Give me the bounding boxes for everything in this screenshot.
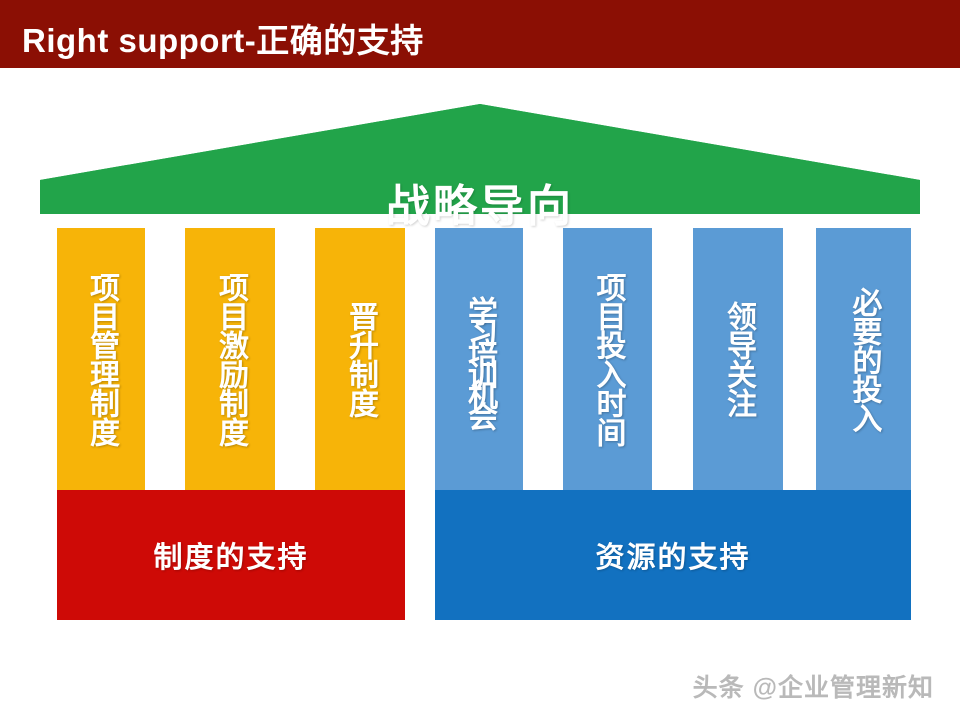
pillar-left-2[interactable]: 项目激励制度 [185,228,275,490]
pillar-right-3[interactable]: 领导关注 [693,228,783,490]
roof-triangle-icon [40,104,920,224]
slide-canvas: 战略导向 项目管理制度 项目激励制度 晋升制度 学习培训机会 项目投入时间 领导… [0,68,960,720]
page-title: Right support-正确的支持 [22,14,424,62]
roof-shape[interactable]: 战略导向 [40,104,920,224]
pillar-right-2[interactable]: 项目投入时间 [563,228,652,490]
pillar-right-4[interactable]: 必要的投入 [816,228,911,490]
base-left-label: 制度的支持 [153,534,308,576]
pillar-left-1-label: 项目管理制度 [86,272,116,446]
pillar-left-2-label: 项目激励制度 [215,272,245,446]
pillar-right-1[interactable]: 学习培训机会 [435,228,523,490]
pillar-right-1-label: 学习培训机会 [464,296,494,422]
pillar-left-3[interactable]: 晋升制度 [315,228,405,490]
pillar-right-4-label: 必要的投入 [849,287,879,432]
pillar-right-2-label: 项目投入时间 [593,272,623,446]
title-bar: Right support-正确的支持 [0,0,960,68]
watermark: 头条 @企业管理新知 [693,668,934,704]
base-right-label: 资源的支持 [595,534,750,576]
base-right[interactable]: 资源的支持 [435,490,911,620]
pillar-left-1[interactable]: 项目管理制度 [57,228,145,490]
pillar-right-3-label: 领导关注 [723,301,753,417]
pillar-left-3-label: 晋升制度 [345,301,375,417]
base-left[interactable]: 制度的支持 [57,490,405,620]
